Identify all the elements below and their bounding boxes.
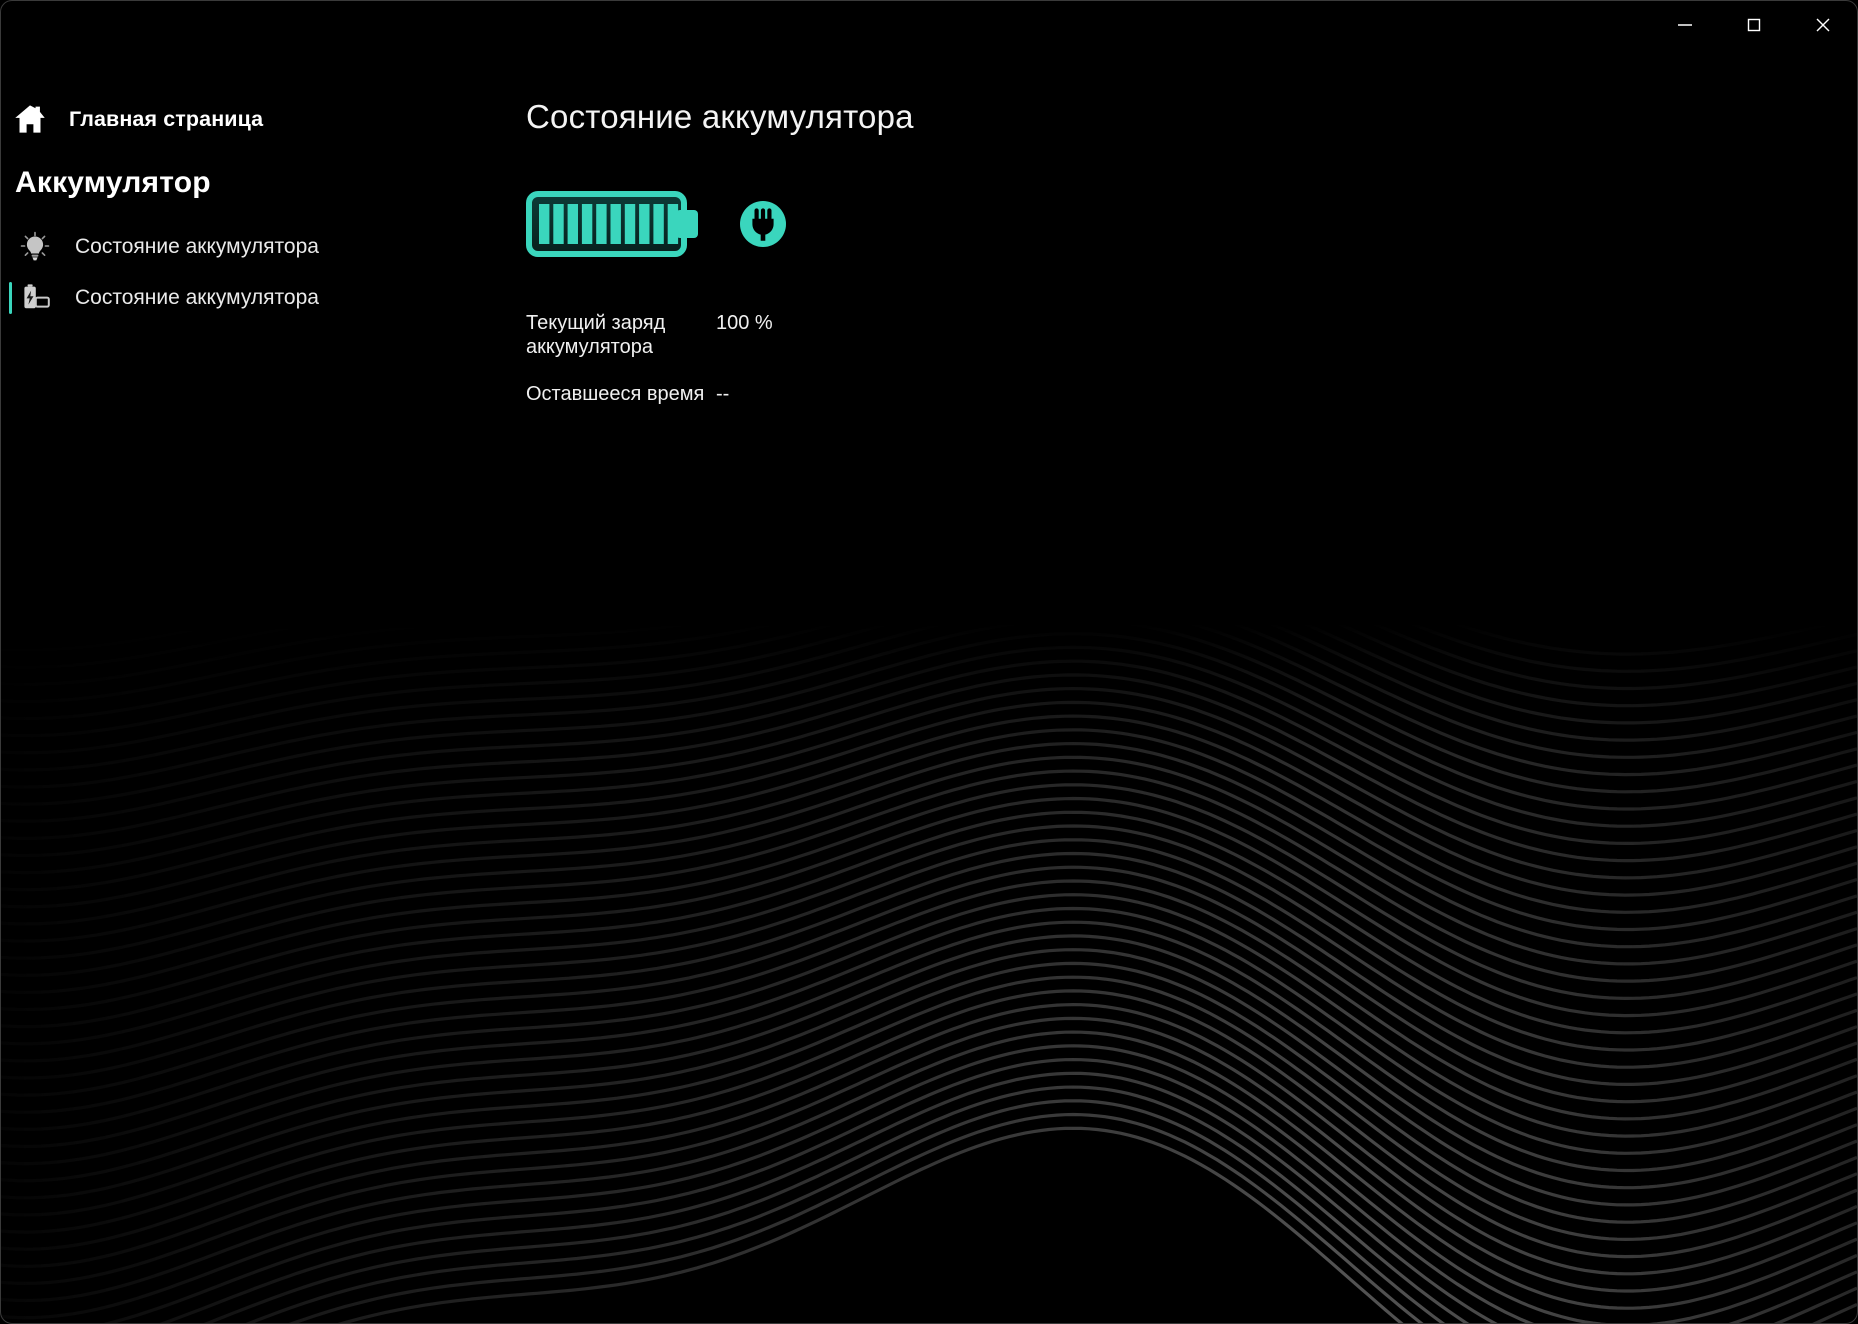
minimize-button[interactable]: [1650, 1, 1719, 48]
sidebar-item-battery-health[interactable]: Состояние аккумулятора: [1, 221, 441, 272]
status-label: Текущий заряд аккумулятора: [526, 312, 716, 359]
main-content: Состояние аккумулятора: [441, 48, 1857, 1323]
sidebar-item-home[interactable]: Главная страница: [1, 95, 441, 143]
maximize-icon: [1743, 14, 1765, 36]
page-title: Состояние аккумулятора: [526, 98, 1857, 136]
battery-segment: [639, 204, 649, 244]
sidebar-section-title: Аккумулятор: [1, 166, 441, 200]
sidebar-home-label: Главная страница: [69, 107, 263, 132]
sidebar: Главная страница Аккумулятор: [1, 48, 441, 1323]
battery-segment: [539, 204, 549, 244]
home-icon: [13, 102, 47, 136]
battery-full-icon: [526, 186, 711, 262]
close-icon: [1812, 14, 1834, 36]
close-button[interactable]: [1788, 1, 1857, 48]
lightbulb-icon: [17, 230, 53, 264]
maximize-button[interactable]: [1719, 1, 1788, 48]
title-bar: [1, 1, 1857, 48]
battery-status-table: Текущий заряд аккумулятора 100 % Оставше…: [526, 312, 1857, 407]
status-row: Оставшееся время --: [526, 383, 1857, 407]
status-value: --: [716, 383, 729, 407]
sidebar-item-battery-status[interactable]: Состояние аккумулятора: [1, 272, 441, 323]
sidebar-item-label: Состояние аккумулятора: [75, 286, 319, 310]
battery-segment: [668, 204, 678, 244]
status-row: Текущий заряд аккумулятора 100 %: [526, 312, 1857, 359]
sidebar-item-label: Состояние аккумулятора: [75, 235, 319, 259]
battery-segment: [582, 204, 592, 244]
battery-segment: [625, 204, 635, 244]
selection-indicator: [9, 282, 12, 314]
battery-segment: [568, 204, 578, 244]
power-plug-icon: [737, 198, 789, 250]
battery-charging-icon: [17, 281, 53, 315]
battery-segment: [653, 204, 663, 244]
battery-segment: [596, 204, 606, 244]
status-value: 100 %: [716, 312, 773, 336]
sidebar-nav-list: Состояние аккумулятора Состояние аккумул…: [1, 221, 441, 323]
status-label: Оставшееся время: [526, 383, 716, 407]
battery-graphic-row: [526, 186, 1857, 262]
minimize-icon: [1674, 14, 1696, 36]
battery-segment: [553, 204, 563, 244]
app-window: Главная страница Аккумулятор: [0, 0, 1858, 1324]
battery-segment: [611, 204, 621, 244]
